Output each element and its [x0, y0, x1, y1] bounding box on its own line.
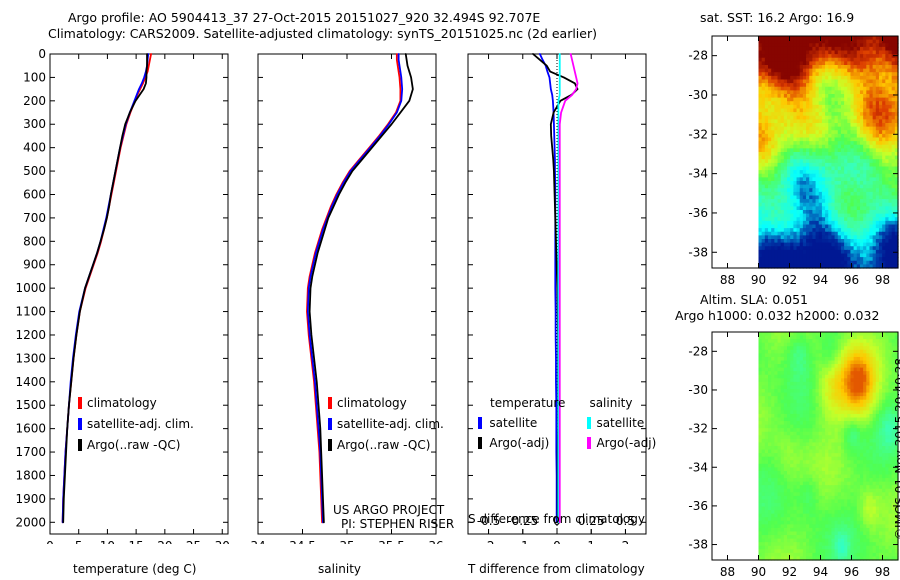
difference-plot: -2-1012-0.5-0.2500.250.5: [455, 44, 665, 544]
temperature-plot: 0100200300400500600700800900100011001200…: [0, 44, 240, 544]
legend-item: satellite-adj. clim.: [78, 413, 194, 432]
svg-text:-32: -32: [688, 127, 708, 141]
salinity-axis-label: salinity: [318, 562, 361, 576]
svg-text:800: 800: [23, 234, 46, 248]
svg-text:1600: 1600: [15, 422, 46, 436]
difference-legend-table: temperature salinity satellite satellite…: [478, 392, 656, 451]
legend-swatch-climatology: [328, 397, 332, 409]
svg-text:35: 35: [339, 539, 354, 544]
legend-label: Argo(..raw -QC): [337, 438, 430, 452]
svg-text:92: 92: [782, 273, 797, 287]
legend-label: satellite-adj. clim.: [87, 417, 194, 431]
svg-text:-38: -38: [688, 245, 708, 259]
legend-item: Argo(..raw -QC): [328, 434, 444, 453]
svg-text:400: 400: [23, 141, 46, 155]
legend-item: satellite-adj. clim.: [328, 413, 444, 432]
sst-map: -28-30-32-34-36-38889092949698: [672, 30, 900, 288]
svg-text:200: 200: [23, 94, 46, 108]
svg-text:700: 700: [23, 211, 46, 225]
svg-text:34: 34: [250, 539, 265, 544]
svg-text:20: 20: [157, 539, 172, 544]
svg-text:35.5: 35.5: [378, 539, 405, 544]
svg-text:96: 96: [844, 273, 859, 287]
legend-label: Argo(..raw -QC): [87, 438, 180, 452]
svg-text:-36: -36: [688, 206, 708, 220]
legend-label: satellite: [596, 416, 644, 430]
svg-text:500: 500: [23, 164, 46, 178]
svg-text:94: 94: [813, 273, 828, 287]
svg-text:1200: 1200: [15, 328, 46, 342]
legend-label: satellite-adj. clim.: [337, 417, 444, 431]
svg-text:1: 1: [587, 539, 595, 544]
legend-label: satellite: [489, 416, 537, 430]
legend-header-salinity: salinity: [589, 396, 632, 410]
legend-swatch-sal-argo: [587, 437, 591, 449]
svg-text:100: 100: [23, 70, 46, 84]
svg-text:88: 88: [720, 273, 735, 287]
svg-text:2000: 2000: [15, 515, 46, 529]
legend-label: climatology: [87, 396, 157, 410]
figure-title-line2: Climatology: CARS2009. Satellite-adjuste…: [48, 26, 597, 41]
svg-text:1900: 1900: [15, 492, 46, 506]
svg-text:0: 0: [553, 539, 561, 544]
svg-text:1100: 1100: [15, 305, 46, 319]
difference-legend: temperature salinity satellite satellite…: [478, 392, 656, 451]
svg-text:15: 15: [128, 539, 143, 544]
legend-swatch-satellite-adj: [328, 418, 332, 430]
legend-swatch-sal-satellite: [587, 417, 591, 429]
legend-swatch-satellite-adj: [78, 418, 82, 430]
temperature-legend: climatology satellite-adj. clim. Argo(..…: [78, 392, 194, 453]
svg-text:900: 900: [23, 258, 46, 272]
salinity-plot: 3434.53535.536: [240, 44, 455, 544]
svg-text:30: 30: [215, 539, 230, 544]
salinity-panel: 3434.53535.536: [240, 44, 455, 544]
legend-swatch-temp-argo: [478, 437, 482, 449]
imos-credit: ©IMOS 01-Nov-2015 20:40:28: [893, 540, 900, 554]
salinity-legend: climatology satellite-adj. clim. Argo(..…: [328, 392, 444, 453]
t-difference-axis-label: T difference from climatology: [468, 562, 645, 576]
sla-map-title-line1: Altim. SLA: 0.051: [700, 292, 808, 307]
svg-text:-30: -30: [688, 88, 708, 102]
svg-text:98: 98: [875, 273, 890, 287]
legend-label: climatology: [337, 396, 407, 410]
legend-item: climatology: [328, 392, 444, 411]
svg-text:90: 90: [751, 273, 766, 287]
temperature-panel: 0100200300400500600700800900100011001200…: [0, 44, 240, 544]
svg-text:600: 600: [23, 187, 46, 201]
svg-text:0: 0: [46, 539, 54, 544]
svg-text:5: 5: [75, 539, 83, 544]
sla-map-title-line2: Argo h1000: 0.032 h2000: 0.032: [675, 308, 879, 323]
legend-swatch-temp-satellite: [478, 417, 482, 429]
svg-text:1500: 1500: [15, 398, 46, 412]
svg-text:-2: -2: [483, 539, 495, 544]
difference-panel: -2-1012-0.5-0.2500.250.5: [455, 44, 665, 544]
sst-heatmap: -28-30-32-34-36-38889092949698: [672, 30, 900, 288]
svg-text:36: 36: [428, 539, 443, 544]
svg-text:0: 0: [38, 47, 46, 61]
legend-item: Argo(..raw -QC): [78, 434, 194, 453]
legend-swatch-argo: [78, 439, 82, 451]
svg-text:25: 25: [186, 539, 201, 544]
project-pi: PI: STEPHEN RISER: [341, 517, 454, 531]
legend-label: Argo(-adj): [489, 436, 549, 450]
svg-text:34.5: 34.5: [289, 539, 316, 544]
svg-text:-1: -1: [517, 539, 529, 544]
legend-swatch-climatology: [78, 397, 82, 409]
svg-text:10: 10: [100, 539, 115, 544]
svg-text:-28: -28: [688, 49, 708, 63]
legend-swatch-argo: [328, 439, 332, 451]
svg-text:1700: 1700: [15, 445, 46, 459]
legend-item: climatology: [78, 392, 194, 411]
svg-text:1000: 1000: [15, 281, 46, 295]
svg-text:2: 2: [622, 539, 630, 544]
svg-text:300: 300: [23, 117, 46, 131]
sla-heatmap: -28-30-32-34-36-38889092949698: [672, 326, 900, 576]
svg-text:-34: -34: [688, 167, 708, 181]
temperature-axis-label: temperature (deg C): [73, 562, 196, 576]
imos-credit-text: ©IMOS 01-Nov-2015 20:40:28: [893, 358, 900, 540]
svg-text:1800: 1800: [15, 468, 46, 482]
legend-header-temperature: temperature: [490, 396, 565, 410]
sst-map-title: sat. SST: 16.2 Argo: 16.9: [700, 10, 854, 25]
s-difference-axis-label: S difference from climatology: [468, 512, 645, 526]
svg-text:1400: 1400: [15, 375, 46, 389]
legend-label: Argo(-adj): [596, 436, 656, 450]
svg-text:1300: 1300: [15, 351, 46, 365]
figure-title-line1: Argo profile: AO 5904413_37 27-Oct-2015 …: [68, 10, 540, 25]
project-name: US ARGO PROJECT: [333, 503, 444, 517]
sla-map: -28-30-32-34-36-38889092949698: [672, 326, 900, 576]
